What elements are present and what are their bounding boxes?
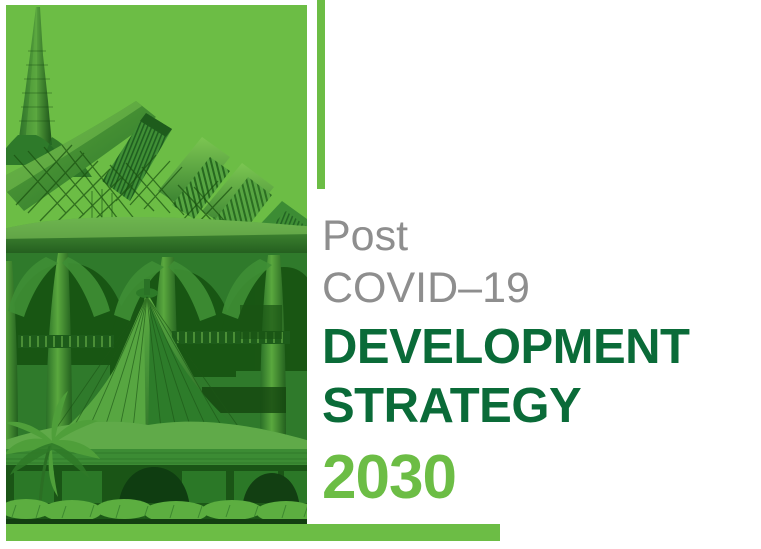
- vertical-accent-rule: [317, 0, 325, 189]
- title-line-covid: COVID–19: [322, 262, 742, 314]
- cover-photo: [6, 5, 307, 524]
- title-line-post: Post: [322, 210, 742, 262]
- title-line-development: DEVELOPMENT: [322, 318, 742, 377]
- title-line-year: 2030: [322, 442, 742, 514]
- report-cover: Post COVID–19 DEVELOPMENT STRATEGY 2030: [0, 0, 761, 549]
- bottom-accent-bar: [6, 524, 500, 541]
- title-line-strategy: STRATEGY: [322, 377, 742, 436]
- cover-title-block: Post COVID–19 DEVELOPMENT STRATEGY 2030: [322, 210, 742, 514]
- cover-photo-illustration: [6, 5, 307, 524]
